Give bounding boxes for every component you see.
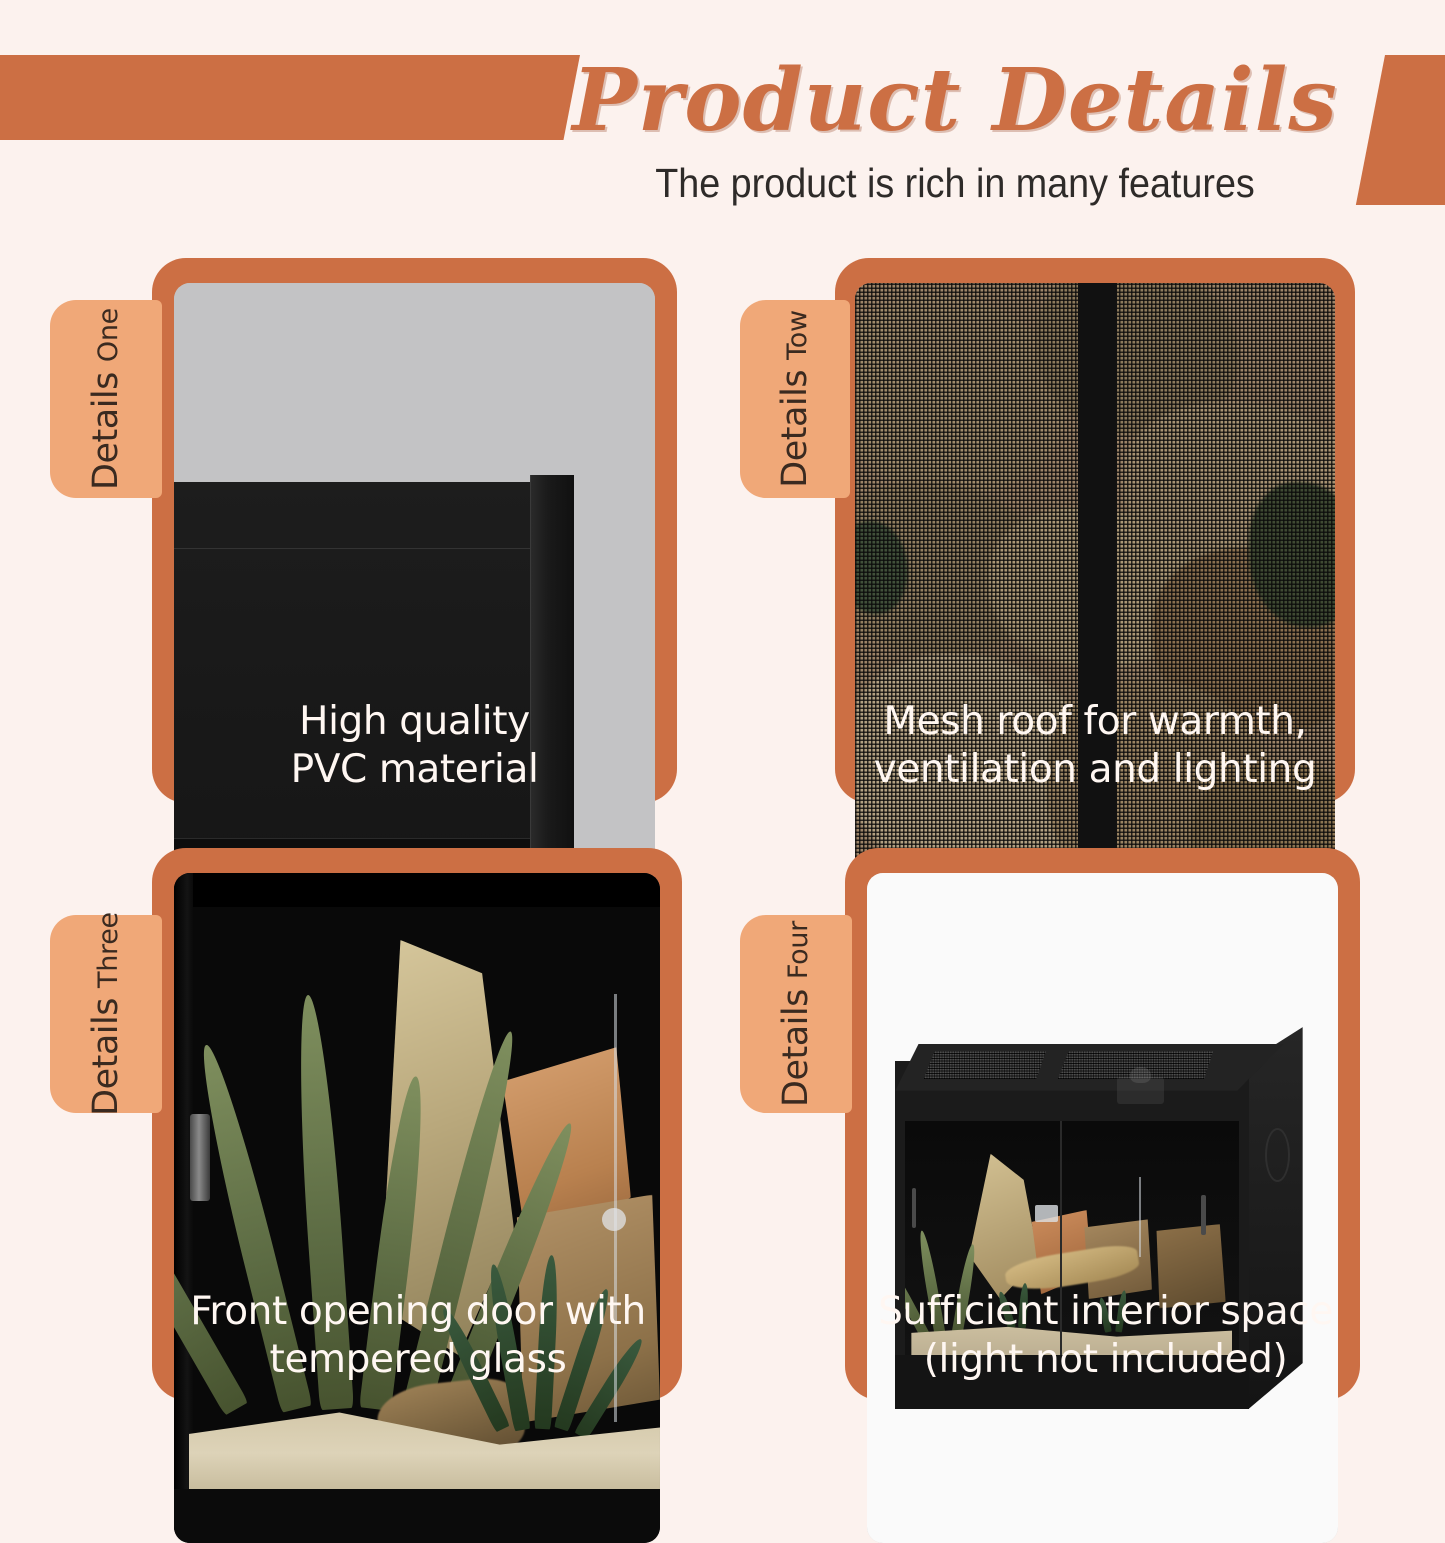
full-terrarium-product-photo [867,873,1338,1543]
door-handle-left[interactable] [912,1188,916,1228]
page-title: Product Details [540,58,1370,144]
pvc-panel-seam [174,548,530,549]
door-handle[interactable] [190,1114,210,1201]
page-subtitle: The product is rich in many features [573,160,1337,207]
mesh-roof-photo [855,283,1335,945]
door-bottom-frame [174,1489,660,1543]
tab-details-four[interactable]: Details Four [740,915,852,1113]
caption-line-1: High quality [152,698,677,746]
detail-card-four-caption: Sufficient interior space (light not inc… [838,1288,1373,1383]
detail-card-one-caption: High quality PVC material [152,698,677,793]
tab-details-one[interactable]: Details One [50,300,162,498]
detail-card-two-caption: Mesh roof for warmth, ventilation and li… [835,698,1355,793]
detail-card-three-caption: Front opening door with tempered glass [148,1288,688,1383]
caption-line-1: Front opening door with [148,1288,688,1336]
tab-three-sub-label: Three [93,912,124,988]
tab-details-three[interactable]: Details Three [50,915,162,1113]
tab-two-sub-label: Tow [782,310,813,360]
tab-one-sub-label: One [93,308,124,362]
mesh-center-divider-bar [1078,283,1116,945]
tab-one-main-label: Details [86,372,126,490]
tab-three-main-label: Details [86,998,126,1116]
caption-line-2: PVC material [152,746,677,794]
door-top-frame [174,873,660,907]
door-handle-right[interactable] [1201,1195,1205,1235]
header-accent-bar-left [0,55,580,140]
terrarium-mesh-panel-left [924,1051,1046,1079]
brand-logo-badge [1117,1077,1164,1104]
tab-two-main-label: Details [775,370,815,488]
page-header: Product Details The product is rich in m… [0,0,1445,225]
tab-four-sub-label: Four [783,921,814,979]
front-door-glass-photo [174,873,660,1543]
tab-four-main-label: Details [776,989,816,1107]
caption-line-2: (light not included) [838,1336,1373,1384]
caption-line-2: ventilation and lighting [835,746,1355,794]
caption-line-1: Mesh roof for warmth, [835,698,1355,746]
caption-line-2: tempered glass [148,1336,688,1384]
tab-details-tow[interactable]: Details Tow [740,300,850,498]
caption-line-1: Sufficient interior space [838,1288,1373,1336]
pvc-panel-closeup-photo [174,283,655,945]
side-vent-icon [1265,1128,1290,1182]
